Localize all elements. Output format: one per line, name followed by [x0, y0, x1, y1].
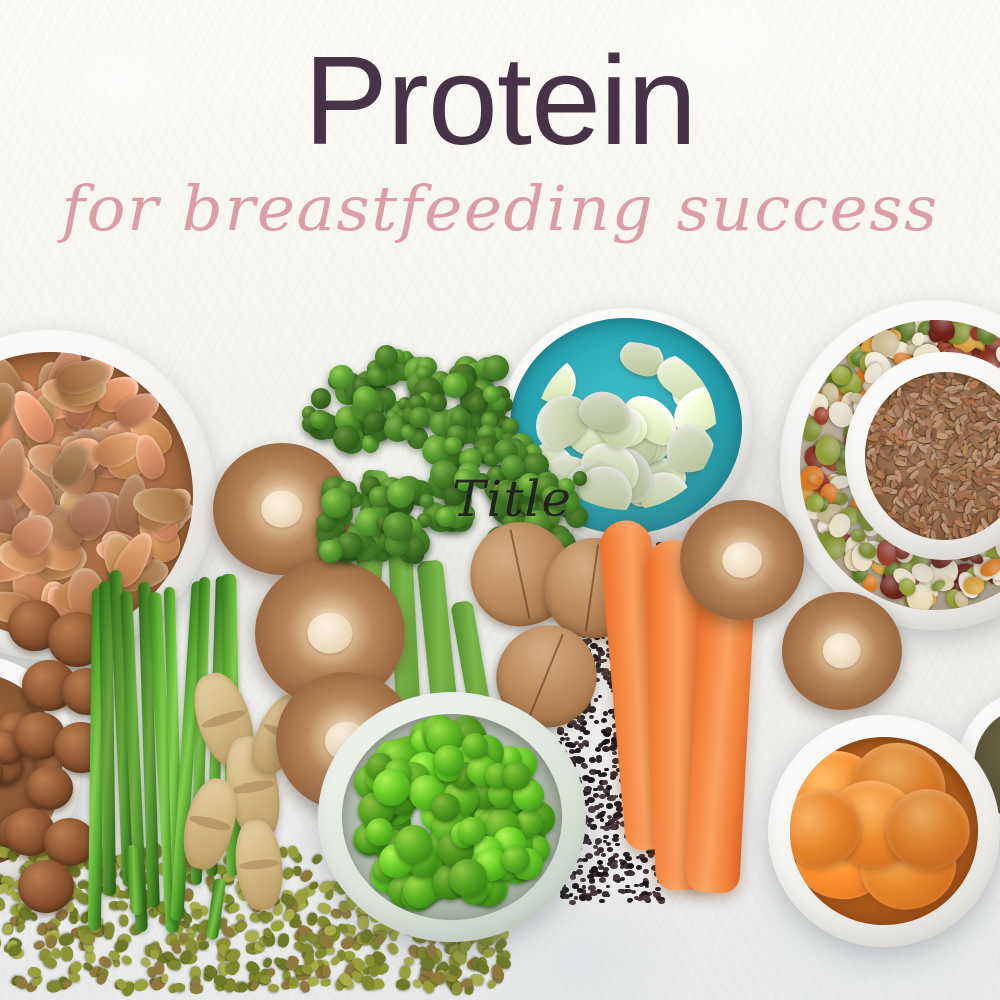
quinoa-seed	[585, 744, 589, 747]
broccoli-floret	[367, 366, 387, 386]
flax-seed	[977, 406, 989, 411]
quinoa-seed	[589, 878, 594, 882]
quinoa-seed	[590, 890, 598, 896]
broccoli-floret	[419, 494, 433, 508]
broccoli-floret	[501, 455, 525, 479]
quinoa-seed	[605, 727, 612, 732]
quinoa-seed	[602, 891, 609, 897]
quinoa-seed	[600, 826, 604, 829]
flax-seed	[982, 448, 987, 457]
flax-seed	[970, 525, 975, 535]
quinoa-seed	[601, 853, 606, 857]
flax-seeds-contents	[865, 372, 1000, 540]
quinoa-seed	[612, 765, 617, 769]
broccoli-floret	[430, 460, 458, 488]
mung-bean	[301, 944, 312, 953]
quinoa-seed	[598, 773, 604, 778]
hazelnut	[26, 766, 73, 810]
quinoa-seed	[598, 865, 605, 870]
quinoa-seed	[625, 872, 630, 876]
mushroom-stem	[308, 613, 353, 654]
quinoa-seed	[608, 795, 616, 801]
broccoli-floret	[333, 425, 360, 452]
broccoli-floret	[383, 512, 412, 541]
quinoa-seed	[560, 737, 565, 741]
quinoa-seed	[589, 818, 594, 822]
quinoa-seed	[601, 671, 608, 677]
mung-bean	[304, 951, 315, 964]
mushroom-stem	[823, 633, 861, 668]
page-subtitle: for breastfeeding success	[0, 164, 1000, 240]
peanut-shell-waist	[230, 778, 275, 796]
quinoa-seed	[600, 818, 604, 821]
mushroom-stem	[722, 542, 762, 578]
quinoa-seed	[656, 896, 662, 901]
mushroom	[680, 500, 804, 620]
mung-bean	[214, 974, 226, 984]
quinoa-seed	[573, 750, 577, 753]
quinoa-seed	[599, 659, 605, 664]
quinoa-seed	[639, 854, 645, 859]
quinoa-seed	[593, 845, 598, 849]
quinoa-seed	[636, 865, 642, 870]
green-pea	[373, 769, 410, 806]
peanut-shell-waist	[189, 814, 232, 833]
quinoa-seed	[594, 720, 599, 724]
broccoli-floret	[454, 469, 476, 491]
broccoli-floret	[450, 409, 468, 427]
quinoa-seed	[594, 851, 600, 856]
green-pea	[403, 874, 437, 908]
quinoa-seed	[606, 785, 612, 790]
green-pea	[462, 733, 488, 759]
dried-apricots-contents	[790, 737, 978, 925]
quinoa-seed	[597, 813, 604, 819]
flax-seed	[915, 377, 928, 383]
mushroom-stem	[261, 491, 302, 528]
quinoa-seed	[576, 757, 584, 763]
broccoli-floret	[321, 488, 351, 518]
quinoa-seed	[607, 847, 613, 851]
quinoa-seed	[596, 647, 603, 652]
broccoli-floret	[329, 365, 353, 389]
quinoa-seed	[642, 881, 649, 887]
broccoli-floret	[375, 345, 398, 368]
quinoa-seed	[613, 874, 620, 880]
broccoli-floret	[483, 386, 501, 404]
quinoa-seed	[634, 884, 638, 887]
quinoa-seed	[613, 813, 619, 818]
quinoa-seed	[642, 895, 650, 901]
poster-canvas: Protein for breastfeeding success Title	[0, 0, 1000, 1000]
green-peas-bowl	[318, 692, 586, 942]
broccoli-floret	[444, 437, 462, 455]
quinoa-seed	[620, 877, 625, 881]
flax-seed	[930, 530, 935, 540]
flax-seed	[880, 445, 891, 451]
flax-seed	[881, 486, 893, 491]
quinoa-seed	[643, 869, 649, 874]
mushroom	[782, 592, 902, 710]
green-pea	[366, 818, 393, 845]
quinoa-seed	[599, 794, 606, 799]
quinoa-seed	[609, 825, 616, 830]
quinoa-seed	[591, 772, 595, 775]
broccoli-floret	[542, 486, 561, 505]
flax-seed	[948, 498, 955, 510]
mung-bean	[339, 900, 349, 912]
headline-block: Protein for breastfeeding success	[0, 0, 1000, 240]
green-pea	[434, 745, 464, 775]
green-pea	[458, 817, 486, 845]
legume-seed	[963, 576, 985, 595]
quinoa-seed	[591, 866, 598, 871]
dried-apricots-bowl	[768, 715, 1000, 947]
peanut-shell-waist	[238, 858, 279, 871]
quinoa-seed	[565, 742, 572, 747]
hazelnut	[18, 860, 74, 913]
flax-seed	[896, 456, 905, 460]
broccoli-floret	[319, 540, 342, 563]
quinoa-seed	[637, 897, 642, 901]
green-pea	[502, 846, 529, 873]
broccoli-floret	[311, 388, 332, 409]
quinoa-seed	[606, 739, 610, 742]
flax-seed	[941, 513, 947, 522]
mung-bean	[103, 927, 113, 940]
quinoa-seed	[606, 803, 613, 808]
quinoa-seed	[602, 780, 608, 785]
hazelnut	[44, 818, 95, 866]
mung-bean	[293, 865, 301, 875]
quinoa-seed	[648, 853, 654, 858]
mung-bean	[288, 977, 299, 986]
quinoa-seed	[610, 863, 618, 869]
flax-seed	[926, 429, 931, 440]
broccoli-floret	[409, 407, 430, 428]
broccoli-floret	[363, 410, 386, 433]
quinoa-seed	[594, 698, 598, 701]
flax-seed	[987, 511, 992, 522]
quinoa-seed	[565, 737, 570, 741]
mung-bean	[119, 914, 129, 926]
quinoa-seed	[582, 885, 586, 888]
green-peas-contents	[342, 714, 562, 920]
quinoa-seed	[612, 751, 617, 755]
quinoa-seed	[577, 717, 584, 723]
flax-seed	[877, 408, 885, 413]
broccoli-floret	[310, 410, 328, 428]
page-title: Protein	[0, 0, 1000, 164]
green-pea	[395, 825, 432, 862]
quinoa-seed	[578, 865, 582, 868]
broccoli-floret	[495, 481, 520, 506]
peanut-shell-waist	[200, 707, 246, 730]
quinoa-seed	[587, 797, 595, 803]
